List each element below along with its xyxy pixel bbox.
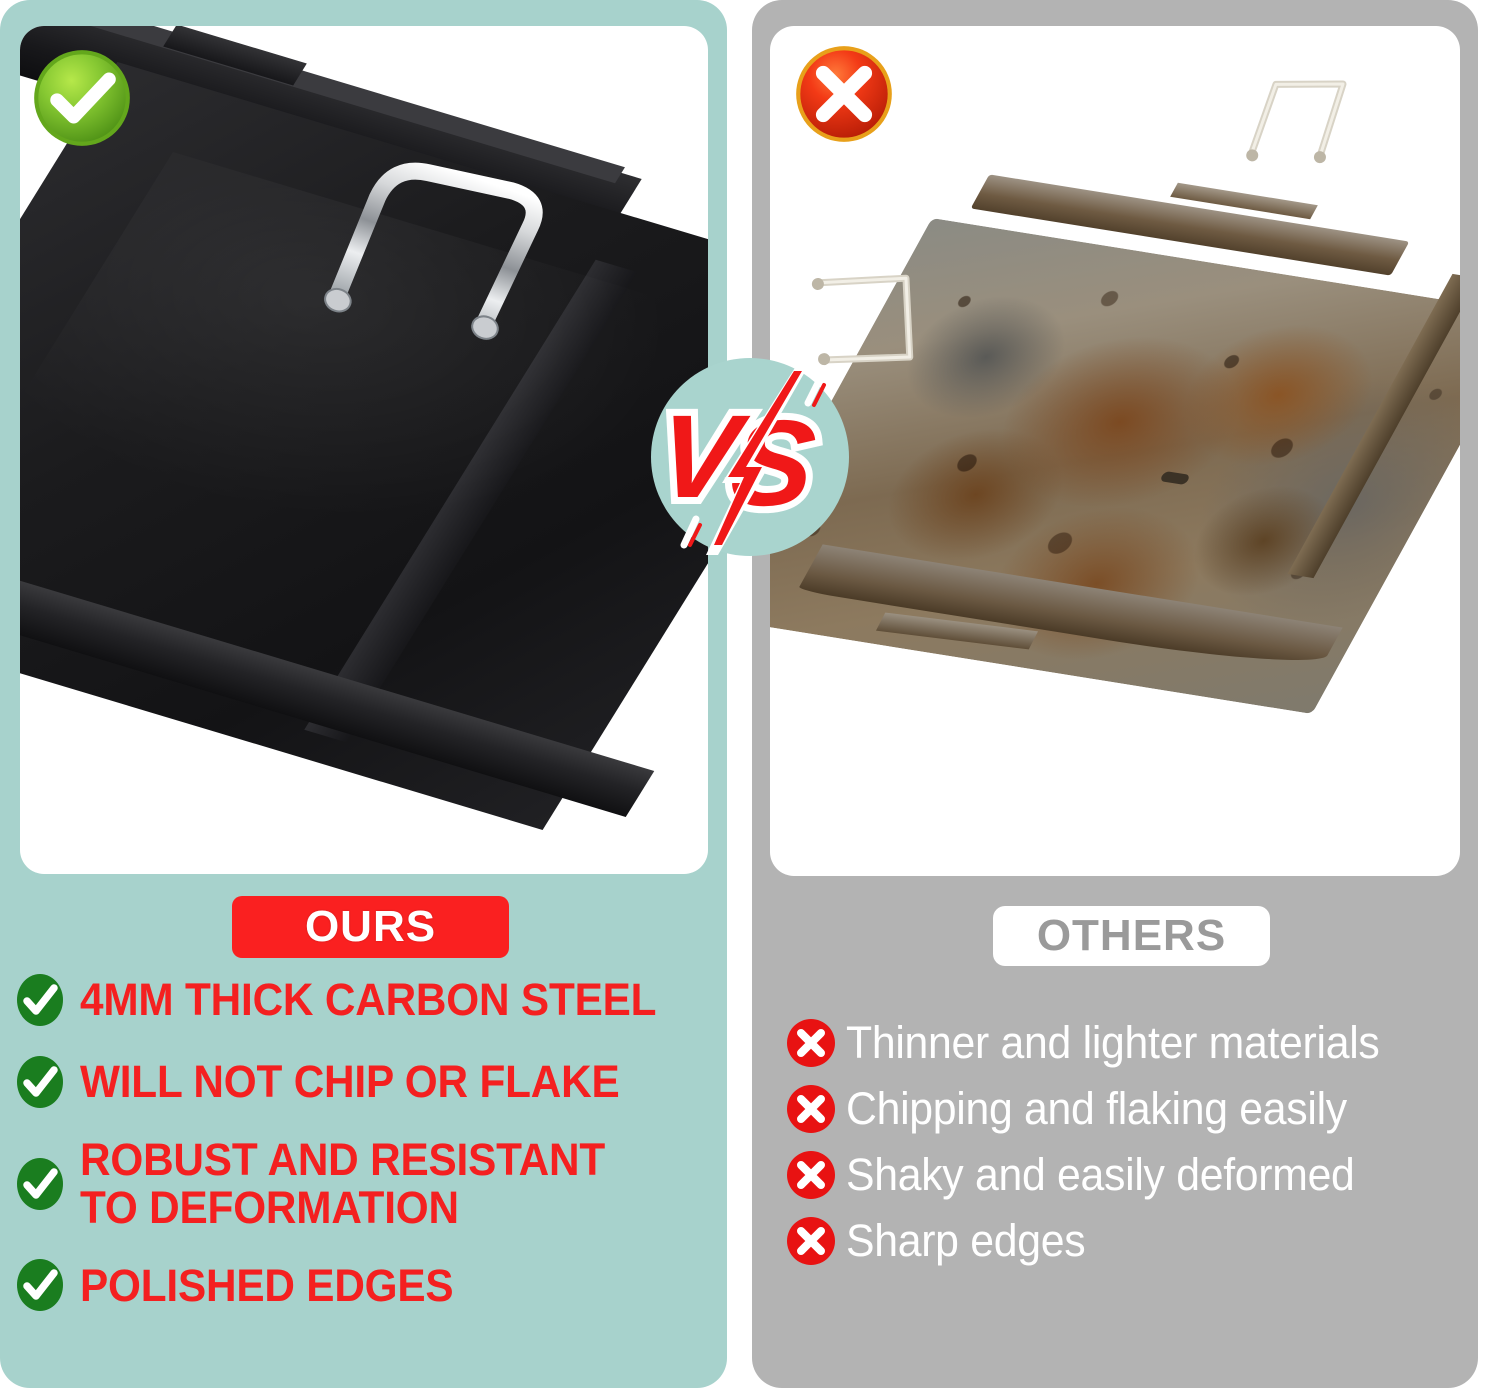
- list-item: POLISHED EDGES: [16, 1257, 726, 1313]
- check-circle-icon: [16, 1257, 64, 1313]
- green-check-circle-icon: [30, 46, 134, 150]
- others-product-photo-card: [770, 26, 1460, 876]
- ours-label-text: OURS: [305, 902, 436, 952]
- list-item-label: Thinner and lighter materials: [846, 1018, 1380, 1068]
- vs-badge: V S V S: [648, 355, 852, 559]
- list-item: Sharp edges: [786, 1216, 1486, 1266]
- list-item-label: Shaky and easily deformed: [846, 1150, 1355, 1200]
- others-label-pill: OTHERS: [993, 906, 1270, 966]
- list-item-label: POLISHED EDGES: [80, 1262, 453, 1310]
- black-griddle-illustration: [20, 26, 708, 874]
- cross-circle-icon: [786, 1150, 836, 1200]
- wire-handle-icon: [1230, 46, 1381, 197]
- list-item-label: Chipping and flaking easily: [846, 1084, 1347, 1134]
- list-item: Shaky and easily deformed: [786, 1150, 1486, 1200]
- rusty-griddle-illustration: [770, 26, 1460, 876]
- list-item-label: WILL NOT CHIP OR FLAKE: [80, 1058, 619, 1106]
- check-circle-icon: [16, 1156, 64, 1212]
- list-item-label: Sharp edges: [846, 1216, 1085, 1266]
- ours-product-photo-card: [20, 26, 708, 874]
- ours-label-pill: OURS: [232, 896, 509, 958]
- red-cross-circle-icon: [792, 42, 896, 146]
- list-item: 4MM THICK CARBON STEEL: [16, 972, 726, 1028]
- cross-circle-icon: [786, 1084, 836, 1134]
- others-feature-list: Thinner and lighter materials Chipping a…: [786, 1018, 1486, 1282]
- cross-circle-icon: [786, 1216, 836, 1266]
- list-item-label: ROBUST AND RESISTANT TO DEFORMATION: [80, 1136, 605, 1231]
- list-item: Thinner and lighter materials: [786, 1018, 1486, 1068]
- comparison-infographic: OURS 4MM THICK CARBON STEEL WILL NOT CHI…: [0, 0, 1500, 1388]
- others-label-text: OTHERS: [1037, 911, 1226, 961]
- list-item: WILL NOT CHIP OR FLAKE: [16, 1054, 726, 1110]
- ours-feature-list: 4MM THICK CARBON STEEL WILL NOT CHIP OR …: [16, 972, 726, 1339]
- cross-circle-icon: [786, 1018, 836, 1068]
- list-item: Chipping and flaking easily: [786, 1084, 1486, 1134]
- list-item-label: 4MM THICK CARBON STEEL: [80, 976, 656, 1024]
- check-circle-icon: [16, 1054, 64, 1110]
- check-circle-icon: [16, 972, 64, 1028]
- list-item: ROBUST AND RESISTANT TO DEFORMATION: [16, 1136, 726, 1231]
